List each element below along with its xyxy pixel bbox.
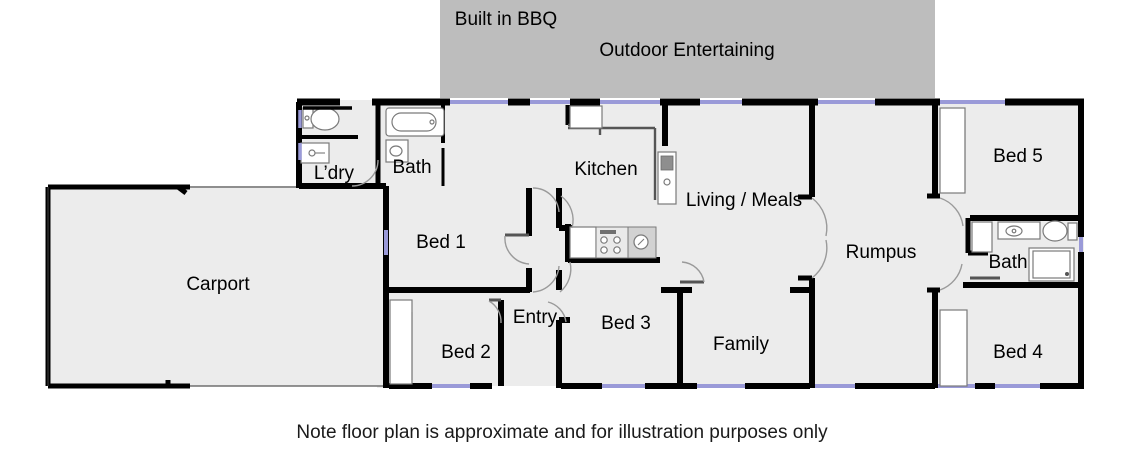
room-label-bath-ensuite: Bath (988, 252, 1027, 273)
room-label-bed-1: Bed 1 (416, 232, 466, 253)
room-label-living-meals: Living / Meals (686, 190, 802, 211)
burner-1 (601, 237, 607, 243)
room-label-bed-4: Bed 4 (993, 342, 1043, 363)
bed5-wardrobe (940, 108, 965, 193)
ensuite-shower (1029, 248, 1074, 281)
ensuite-linen-cupboard (972, 222, 992, 252)
bath-main-tub (386, 108, 444, 136)
ensuite-toilet (1043, 221, 1077, 241)
ldry-trough (301, 143, 329, 163)
room-label-ldry: L’dry (314, 163, 355, 184)
room-label-entry: Entry (513, 307, 558, 328)
ensuite-vanity (998, 222, 1040, 239)
outdoor-entertaining-area: Built in BBQ Outdoor Entertaining (440, 0, 935, 98)
ldry-toilet-bowl (311, 108, 339, 130)
room-label-bed-3: Bed 3 (601, 313, 651, 334)
kitchen-island-appliances (570, 227, 656, 258)
floor-carport-join (297, 186, 386, 386)
ensuite-shower-inner (1033, 251, 1070, 278)
room-label-kitchen: Kitchen (574, 159, 637, 180)
kitchen-oven-top (661, 156, 673, 170)
ldry-trough-drain (309, 150, 315, 156)
kitchen-oven (658, 152, 676, 204)
room-label-bath-main: Bath (392, 157, 431, 178)
ensuite-toilet-cistern (1068, 223, 1077, 240)
bathtub-inner (392, 113, 436, 131)
bathtub-drain (430, 120, 434, 124)
kitchen-fridge (570, 106, 602, 128)
plan-caption: Note floor plan is approximate and for i… (296, 422, 828, 443)
burner-3 (614, 237, 620, 243)
burner-2 (601, 247, 607, 253)
room-label-family: Family (713, 334, 769, 355)
floor-plan-page: Built in BBQ Outdoor Entertaining (0, 0, 1123, 469)
burner-4 (614, 247, 620, 253)
cooktop-controls (600, 230, 616, 234)
ldry-toilet (303, 108, 339, 130)
ldry-toilet-dot (305, 116, 309, 120)
ensuite-shower-drain (1065, 272, 1069, 276)
room-label-carport: Carport (186, 274, 250, 295)
outdoor-entertaining-label: Outdoor Entertaining (599, 40, 774, 61)
ensuite-toilet-bowl (1043, 221, 1067, 241)
bath-basin-bowl (390, 146, 402, 156)
bed4-wardrobe (940, 310, 967, 386)
bed2-wardrobe (390, 300, 412, 384)
room-label-bed-5: Bed 5 (993, 146, 1043, 167)
built-in-bbq-label: Built in BBQ (455, 9, 557, 30)
room-label-rumpus: Rumpus (846, 242, 917, 263)
ensuite-vanity-drain (1012, 229, 1016, 233)
floor-plan-svg: Built in BBQ Outdoor Entertaining (0, 0, 1123, 469)
island-bench-a (570, 227, 596, 258)
room-label-bed-2: Bed 2 (441, 342, 491, 363)
kitchen-oven-knob (664, 179, 670, 185)
